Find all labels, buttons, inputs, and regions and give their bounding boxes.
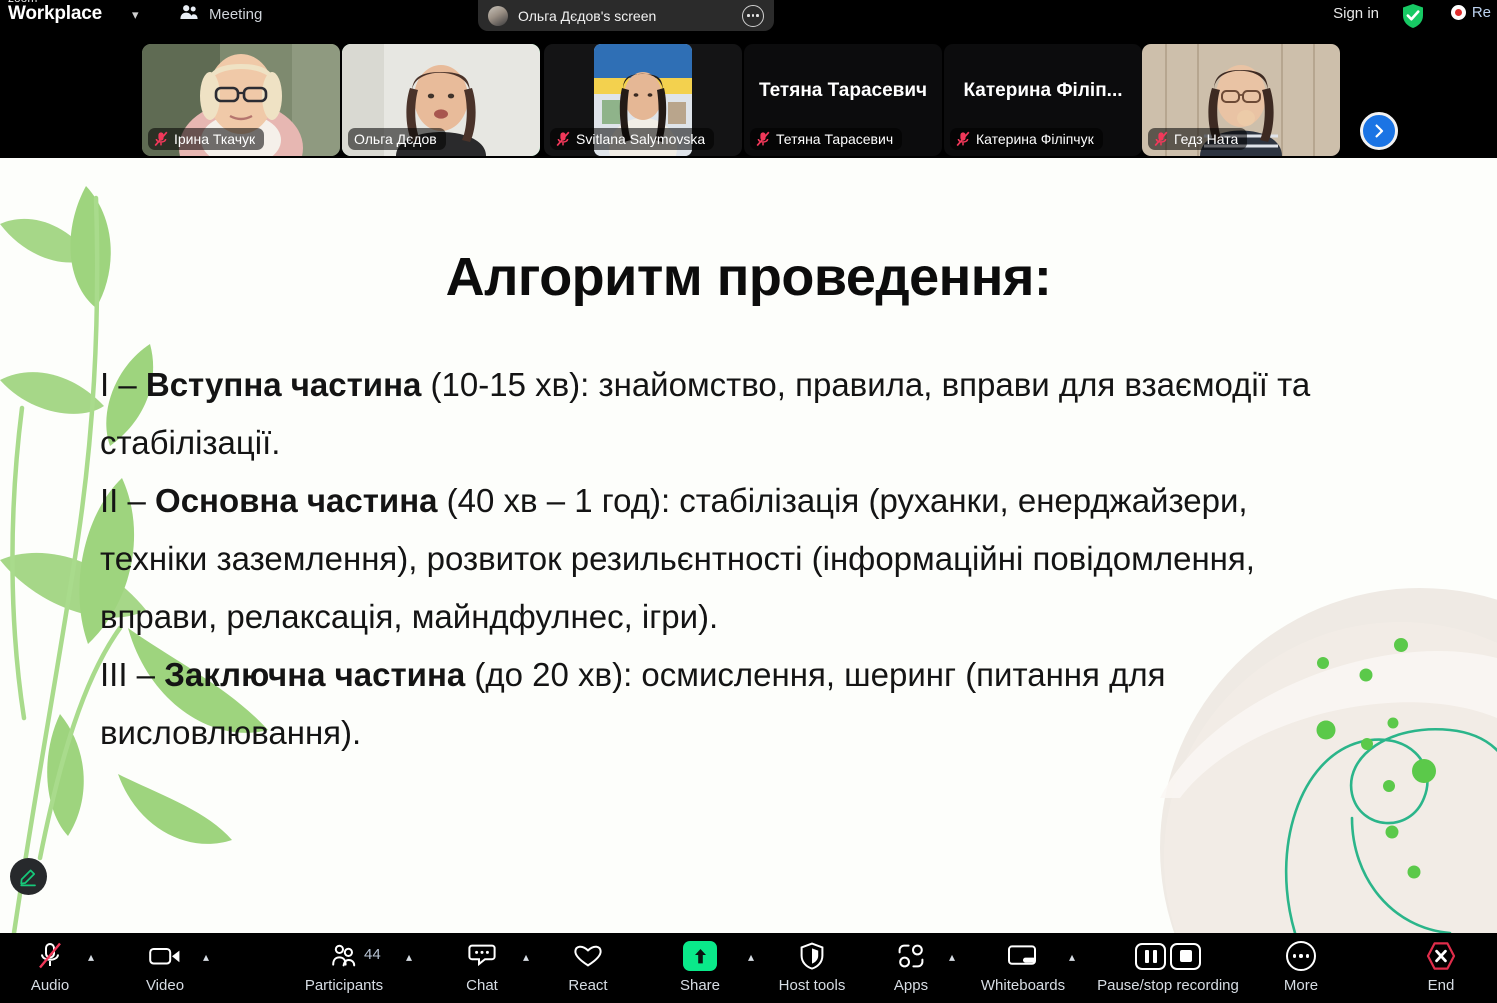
participant-tile-olga-dedov[interactable]: Ольга Дєдов — [342, 44, 540, 156]
microphone-muted-icon — [154, 131, 168, 147]
pause-stop-recording-icon — [1135, 939, 1201, 973]
participant-name-placeholder: Катерина Філіп... — [944, 80, 1142, 102]
section-numeral: I – — [100, 366, 146, 403]
brand-workplace-text: Workplace — [8, 4, 102, 23]
end-call-icon — [1425, 939, 1457, 973]
react-button[interactable]: React — [545, 939, 631, 994]
recording-label: Re — [1472, 4, 1491, 21]
end-meeting-button[interactable]: End — [1398, 939, 1484, 994]
participant-name: Ольга Дєдов — [354, 131, 437, 147]
chat-bubble-icon — [468, 939, 496, 973]
section-heading: Заключна частина — [164, 656, 465, 693]
participant-name-chip: Катерина Філіпчук — [950, 128, 1103, 150]
participant-filmstrip: Ірина Ткачук Ольга Д — [0, 30, 1497, 158]
participants-options-chevron-icon[interactable]: ▴ — [406, 951, 412, 963]
more-options-icon[interactable] — [742, 5, 764, 27]
participant-tile-svitlana-salymovska[interactable]: Svitlana Salymovska — [544, 44, 742, 156]
meeting-tab-label: Meeting — [209, 6, 262, 23]
share-options-chevron-icon[interactable]: ▴ — [748, 951, 754, 963]
meeting-tab[interactable]: Meeting — [178, 4, 262, 25]
sign-in-button[interactable]: Sign in — [1333, 5, 1379, 22]
participants-label: Participants — [305, 977, 383, 994]
pause-recording-icon[interactable] — [1135, 943, 1166, 970]
participant-name-chip: Гедз Ната — [1148, 128, 1247, 150]
section-numeral: III – — [100, 656, 164, 693]
more-label: More — [1284, 977, 1318, 994]
share-screen-button[interactable]: Share — [657, 939, 743, 994]
chevron-down-icon[interactable]: ▾ — [132, 7, 139, 23]
chat-options-chevron-icon[interactable]: ▴ — [523, 951, 529, 963]
sharer-avatar — [488, 6, 508, 26]
pause-stop-recording-button[interactable]: Pause/stop recording — [1058, 939, 1278, 994]
zoom-meeting-window: zoom Workplace ▾ Meeting Ольга Дєдов's s… — [0, 0, 1497, 1003]
camera-icon — [149, 939, 181, 973]
heart-icon — [573, 939, 603, 973]
chat-label: Chat — [466, 977, 498, 994]
audio-button[interactable]: Audio — [7, 939, 93, 994]
video-label: Video — [146, 977, 184, 994]
apps-button[interactable]: Apps — [868, 939, 954, 994]
meeting-toolbar: Audio ▴ Video ▴ Pa — [0, 933, 1497, 1003]
slide-body: I – Вступна частина (10-15 хв): знайомст… — [100, 356, 1340, 762]
participant-tile-hedz-nata[interactable]: Гедз Ната — [1142, 44, 1340, 156]
annotate-button[interactable] — [10, 858, 47, 895]
slide-title: Алгоритм проведення: — [0, 246, 1497, 308]
participant-name-chip: Тетяна Тарасевич — [750, 128, 902, 150]
slide-section-3: III – Заключна частина (до 20 хв): осмис… — [100, 646, 1340, 762]
share-arrow-up-icon — [683, 939, 717, 973]
apps-icon — [897, 939, 925, 973]
slide-section-1: I – Вступна частина (10-15 хв): знайомст… — [100, 356, 1340, 472]
shared-screen-slide: Алгоритм проведення: I – Вступна частина… — [0, 158, 1497, 933]
chat-button[interactable]: Chat — [439, 939, 525, 994]
more-button[interactable]: More — [1258, 939, 1344, 994]
share-label: Share — [680, 977, 720, 994]
section-heading: Вступна частина — [146, 366, 422, 403]
screen-share-banner[interactable]: Ольга Дєдов's screen — [478, 0, 774, 31]
microphone-muted-icon — [956, 131, 970, 147]
video-options-chevron-icon[interactable]: ▴ — [203, 951, 209, 963]
participant-name: Катерина Філіпчук — [976, 131, 1094, 147]
stop-recording-icon[interactable] — [1170, 943, 1201, 970]
whiteboards-button[interactable]: Whiteboards — [980, 939, 1066, 994]
participant-name-chip: Svitlana Salymovska — [550, 128, 714, 150]
participants-group-icon — [178, 4, 200, 25]
participant-tile-tetyana-tarasevych[interactable]: Тетяна Тарасевич Тетяна Тарасевич — [744, 44, 942, 156]
end-label: End — [1428, 977, 1455, 994]
chevron-right-icon[interactable] — [1360, 112, 1398, 150]
whiteboards-label: Whiteboards — [981, 977, 1065, 994]
audio-options-chevron-icon[interactable]: ▴ — [88, 951, 94, 963]
section-numeral: II – — [100, 482, 155, 519]
apps-options-chevron-icon[interactable]: ▴ — [949, 951, 955, 963]
record-dot-icon — [1451, 5, 1466, 20]
pause-stop-recording-label: Pause/stop recording — [1097, 977, 1239, 994]
host-tools-button[interactable]: Host tools — [769, 939, 855, 994]
participant-name: Ірина Ткачук — [174, 131, 255, 147]
participants-icon — [330, 939, 358, 973]
apps-label: Apps — [894, 977, 928, 994]
participant-name-chip: Ольга Дєдов — [348, 128, 446, 150]
title-bar: zoom Workplace ▾ Meeting Ольга Дєдов's s… — [0, 0, 1497, 30]
participant-tile-kateryna-filipchuk[interactable]: Катерина Філіп... Катерина Філіпчук — [944, 44, 1142, 156]
encryption-shield-icon[interactable] — [1401, 3, 1425, 34]
screen-share-title: Ольга Дєдов's screen — [518, 8, 732, 24]
slide-section-2: II – Основна частина (40 хв – 1 год): ст… — [100, 472, 1340, 646]
microphone-muted-icon — [556, 131, 570, 147]
participants-count: 44 — [364, 946, 381, 963]
more-dots-icon — [1286, 939, 1316, 973]
participant-name: Тетяна Тарасевич — [776, 131, 893, 147]
microphone-muted-icon — [756, 131, 770, 147]
host-tools-label: Host tools — [779, 977, 846, 994]
participant-name: Svitlana Salymovska — [576, 131, 705, 147]
participant-name: Гедз Ната — [1174, 131, 1238, 147]
react-label: React — [568, 977, 607, 994]
participant-tile-irina-tkachuk[interactable]: Ірина Ткачук — [142, 44, 340, 156]
recording-indicator[interactable]: Re — [1451, 4, 1491, 21]
section-heading: Основна частина — [155, 482, 437, 519]
participant-name-chip: Ірина Ткачук — [148, 128, 264, 150]
microphone-muted-icon — [1154, 131, 1168, 147]
whiteboard-icon — [1007, 939, 1039, 973]
audio-label: Audio — [31, 977, 69, 994]
shield-icon — [799, 939, 825, 973]
video-button[interactable]: Video — [122, 939, 208, 994]
pencil-annotate-icon — [18, 866, 39, 887]
participant-name-placeholder: Тетяна Тарасевич — [744, 80, 942, 102]
zoom-workplace-logo: zoom Workplace — [8, 0, 102, 23]
microphone-muted-icon — [37, 939, 63, 973]
